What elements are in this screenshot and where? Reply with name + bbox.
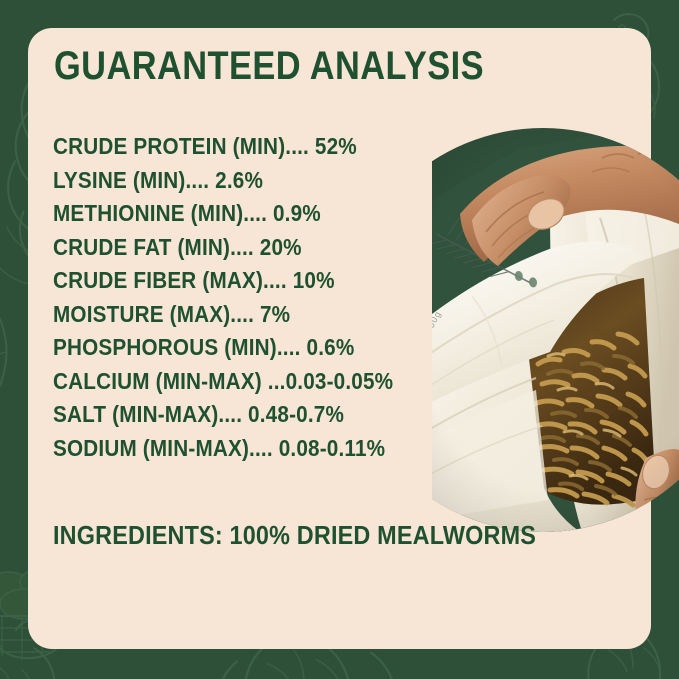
guaranteed-analysis-list: CRUDE PROTEIN (MIN).... 52% LYSINE (MIN)… (53, 132, 473, 467)
analysis-row: PHOSPHOROUS (MIN).... 0.6% (53, 333, 431, 367)
analysis-row: CRUDE FIBER (MAX).... 10% (53, 266, 431, 300)
analysis-row: CALCIUM (MIN-MAX) ...0.03-0.05% (53, 367, 431, 401)
analysis-row: SODIUM (MIN-MAX).... 0.08-0.11% (53, 434, 431, 468)
analysis-row: LYSINE (MIN).... 2.6% (53, 166, 431, 200)
product-label-graphic: 200g (0, 0, 679, 679)
page-title: GUARANTEED ANALYSIS (54, 44, 484, 88)
analysis-row: CRUDE FAT (MIN).... 20% (53, 233, 431, 267)
analysis-row: MOISTURE (MAX).... 7% (53, 300, 431, 334)
ingredients-text: INGREDIENTS: 100% DRIED MEALWORMS (53, 520, 536, 550)
analysis-row: CRUDE PROTEIN (MIN).... 52% (53, 132, 431, 166)
leaf-illustration (0, 300, 6, 416)
analysis-row: SALT (MIN-MAX).... 0.48-0.7% (53, 400, 431, 434)
analysis-row: METHIONINE (MIN).... 0.9% (53, 199, 431, 233)
